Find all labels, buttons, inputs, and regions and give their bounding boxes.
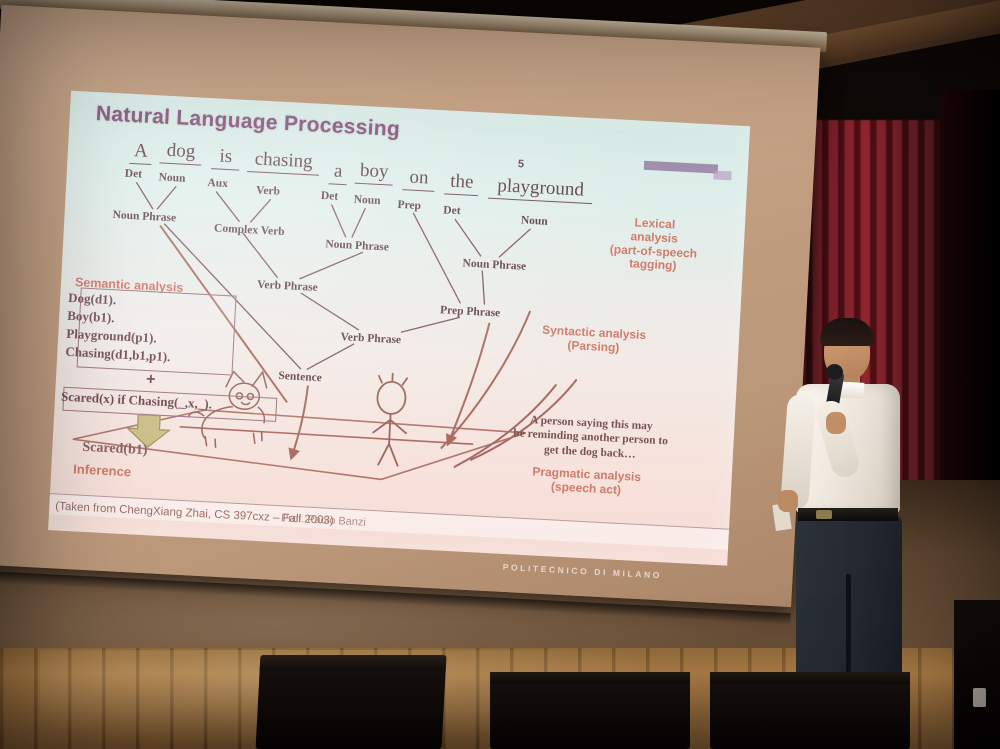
semantic-plus-sign: + — [146, 371, 156, 389]
word-6: on — [402, 166, 435, 192]
word-8: playground — [488, 175, 593, 204]
stage-monitor-center — [490, 672, 690, 749]
slide-number: 5 — [518, 158, 525, 170]
word-4: a — [329, 160, 348, 185]
speaker-indicator — [973, 688, 986, 707]
presenter — [778, 318, 948, 718]
inference-conclusion: Scared(b1) — [82, 440, 148, 459]
pos-tag-3: Verb — [256, 185, 280, 198]
parse-node-6: Verb Phrase — [340, 331, 401, 346]
pos-tag-2: Aux — [207, 177, 228, 190]
projection-screen: Natural Language Processing 5 A dog is c… — [0, 5, 820, 617]
slide-decor-bar — [644, 161, 718, 174]
parse-node-2: Noun Phrase — [325, 238, 389, 253]
pos-tag-1: Noun — [158, 171, 185, 184]
microphone-head — [826, 364, 843, 380]
parse-node-3: Noun Phrase — [462, 257, 526, 272]
word-2: is — [211, 145, 240, 170]
syntactic-analysis-annotation: Syntactic analysis (Parsing) — [508, 322, 679, 358]
word-5: boy — [355, 160, 394, 186]
parse-node-0: Noun Phrase — [112, 209, 176, 224]
presenter-belt — [798, 508, 898, 521]
word-7: the — [444, 170, 479, 196]
page-title: Natural Language Processing — [95, 102, 400, 142]
presenter-left-hand — [778, 490, 798, 512]
parse-node-5: Prep Phrase — [440, 304, 501, 319]
lexical-analysis-annotation: Lexical analysis (part-of-speech tagging… — [590, 214, 717, 276]
semantic-fact-0: Dog(d1). — [68, 290, 117, 308]
word-0: A — [129, 140, 152, 165]
pos-tag-6: Prep — [397, 199, 421, 212]
projected-slide: Natural Language Processing 5 A dog is c… — [48, 91, 750, 566]
stage-monitor-right — [710, 672, 910, 749]
presenter-belt-buckle — [816, 510, 832, 519]
stage-monitor-left — [256, 655, 447, 749]
parse-node-1: Complex Verb — [214, 222, 285, 238]
speaker-tower — [954, 600, 1000, 749]
semantic-fact-1: Boy(b1). — [67, 308, 115, 326]
parse-node-4: Verb Phrase — [257, 279, 318, 294]
parse-node-7: Sentence — [278, 370, 322, 384]
word-3: chasing — [247, 148, 320, 176]
pragmatic-note: A person saying this may be reminding an… — [485, 411, 697, 465]
pragmatic-analysis-annotation: Pragmatic analysis (speech act) — [491, 463, 682, 500]
pos-tag-4: Det — [321, 190, 339, 203]
slide-decor-bar-small — [713, 170, 731, 180]
pos-tag-8: Noun — [521, 214, 548, 227]
photo-scene: Natural Language Processing 5 A dog is c… — [0, 0, 1000, 749]
inference-label: Inference — [73, 461, 132, 479]
pos-tag-7: Det — [443, 204, 461, 217]
pos-tag-0: Det — [125, 168, 143, 181]
presenter-hand-holding-mic — [826, 412, 846, 434]
presenter-hair — [820, 318, 874, 346]
stick-figure-boy — [371, 372, 410, 467]
pos-tag-5: Noun — [353, 194, 380, 207]
word-1: dog — [159, 139, 202, 165]
